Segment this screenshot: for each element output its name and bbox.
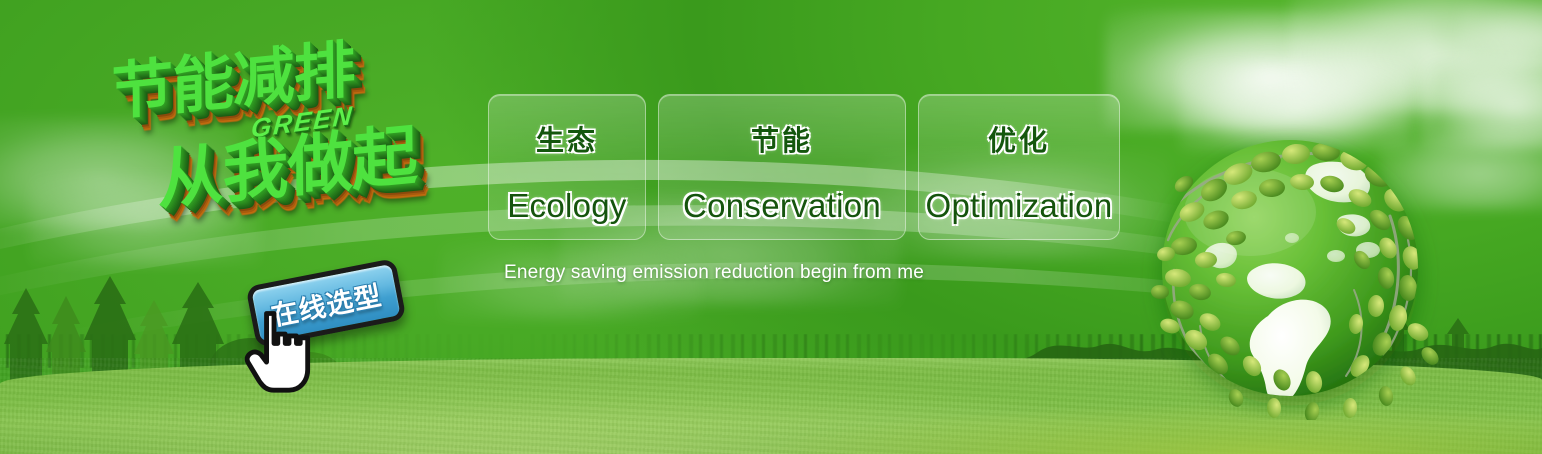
banner-tagline: Energy saving emission reduction begin f… xyxy=(504,262,924,284)
feature-card-cn-label: 优化 xyxy=(988,119,1050,159)
hero-headline-line2: 从我做起 xyxy=(158,120,417,215)
hero-logo: 节能减排 GREEN 从我做起 xyxy=(94,27,485,280)
feature-card-en-label: Optimization xyxy=(925,187,1112,225)
feature-card-ecology[interactable]: 生态 Ecology xyxy=(488,94,646,240)
feature-card-optimization[interactable]: 优化 Optimization xyxy=(918,94,1120,240)
feature-card-conservation[interactable]: 节能 Conservation xyxy=(658,94,906,240)
feature-card-en-label: Conservation xyxy=(683,187,881,225)
cloud-icon xyxy=(1290,0,1542,112)
cloud-icon xyxy=(1460,0,1542,70)
cloud-icon xyxy=(1105,10,1435,130)
leafy-earth-globe xyxy=(1140,120,1440,420)
eco-banner: 节能减排 GREEN 从我做起 在线选型 生态 Ecology 节能 Conse… xyxy=(0,0,1542,454)
online-selection-label: 在线选型 xyxy=(267,273,384,333)
feature-card-cn-label: 节能 xyxy=(751,119,813,159)
feature-card-en-label: Ecology xyxy=(507,187,627,225)
feature-cards: 生态 Ecology 节能 Conservation 优化 Optimizati… xyxy=(488,94,1120,240)
feature-card-cn-label: 生态 xyxy=(536,119,598,159)
